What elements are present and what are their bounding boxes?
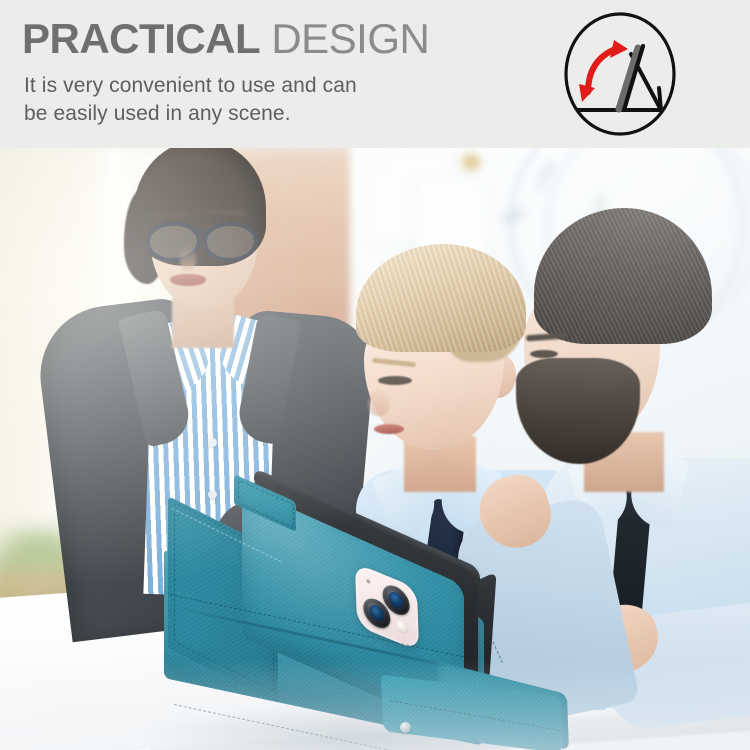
- snap-rivet: [400, 722, 411, 733]
- eye: [530, 350, 558, 358]
- camera-flash: [395, 617, 408, 636]
- title-bold-part: PRACTICAL: [22, 15, 260, 62]
- subtitle-line-1: It is very convenient to use and can: [24, 72, 522, 100]
- header-banner: PRACTICAL DESIGN It is very convenient t…: [0, 0, 750, 148]
- title-light-part: DESIGN: [271, 15, 429, 62]
- header-text-block: PRACTICAL DESIGN It is very convenient t…: [22, 16, 522, 128]
- page-title: PRACTICAL DESIGN: [22, 16, 522, 62]
- product-marketing-image: PRACTICAL DESIGN It is very convenient t…: [0, 0, 750, 750]
- camera-mic: [366, 579, 370, 585]
- hair: [534, 208, 712, 344]
- nose: [180, 246, 196, 270]
- subtitle-line-2: be easily used in any scene.: [24, 100, 522, 128]
- lens-glass: [369, 603, 385, 624]
- adjustable-stand-icon: [555, 10, 685, 138]
- shirt-button: [208, 438, 217, 447]
- pin-magnet: [462, 154, 480, 170]
- lips: [170, 274, 206, 286]
- hair: [356, 244, 526, 352]
- lens-glass: [388, 590, 404, 611]
- eye: [378, 376, 412, 385]
- teal-leather-wallet-folio-case: [150, 488, 570, 748]
- glasses-bridge: [193, 230, 205, 234]
- lips: [374, 424, 404, 434]
- page-subtitle: It is very convenient to use and can be …: [24, 72, 522, 128]
- office-meeting-lifestyle-photo: ∫ 15d ∑va Δβ3 e|8 π ∞6s a√ θ≈2: [0, 148, 750, 750]
- eyeglasses: [146, 222, 266, 256]
- nose: [368, 390, 390, 416]
